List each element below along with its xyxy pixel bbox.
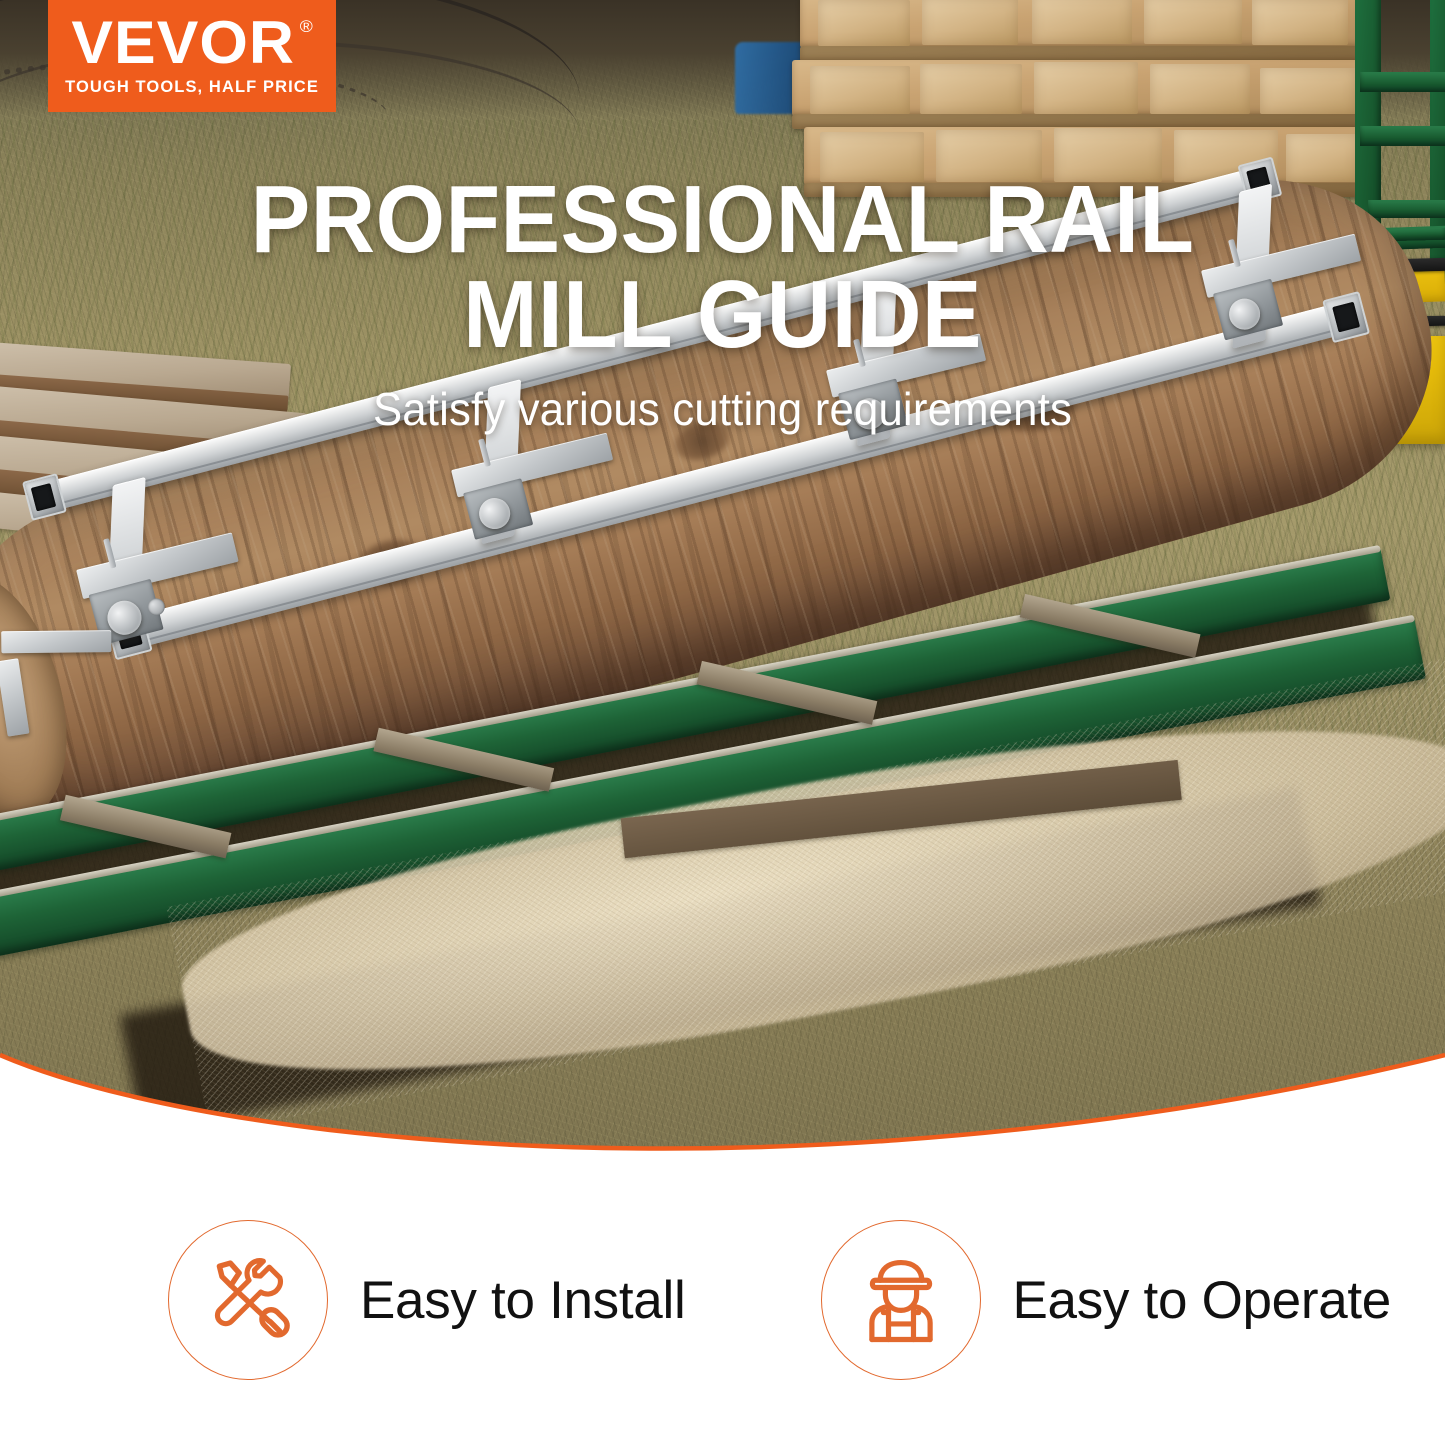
headline-line-1: PROFESSIONAL RAIL: [251, 166, 1195, 273]
product-end-arm: [1, 630, 111, 653]
vevor-logo-wordmark: VEVOR®: [72, 15, 312, 70]
feature-label-install: Easy to Install: [360, 1270, 685, 1331]
hero-photo-stage: VEVOR® TOUGH TOOLS, HALF PRICE PROFESSIO…: [0, 0, 1445, 1175]
rail-groove: [140, 329, 1339, 643]
feature-item-operate: Easy to Operate: [793, 1195, 1445, 1405]
product-bracket: [451, 433, 613, 498]
product-bracket: [76, 532, 239, 599]
feature-label-operate: Easy to Operate: [1013, 1270, 1391, 1331]
hero-headline: PROFESSIONAL RAIL MILL GUIDE: [51, 172, 1395, 362]
hero-subheadline: Satisfy various cutting requirements: [36, 382, 1409, 436]
registered-trademark-icon: ®: [300, 19, 314, 35]
vevor-logo-text: VEVOR: [72, 9, 296, 76]
vevor-tagline: TOUGH TOOLS, HALF PRICE: [65, 78, 319, 97]
feature-icon-circle: [821, 1220, 981, 1380]
feature-icon-circle: [168, 1220, 328, 1380]
tools-wrench-screwdriver-icon: [196, 1248, 300, 1352]
worker-hardhat-icon: [849, 1248, 953, 1352]
feature-item-install: Easy to Install: [0, 1195, 793, 1405]
feature-row: Easy to Install: [0, 1195, 1445, 1405]
headline-line-2: MILL GUIDE: [51, 267, 1395, 362]
green-frame-rail: [1360, 72, 1445, 92]
vevor-logo-badge: VEVOR® TOUGH TOOLS, HALF PRICE: [48, 0, 336, 112]
